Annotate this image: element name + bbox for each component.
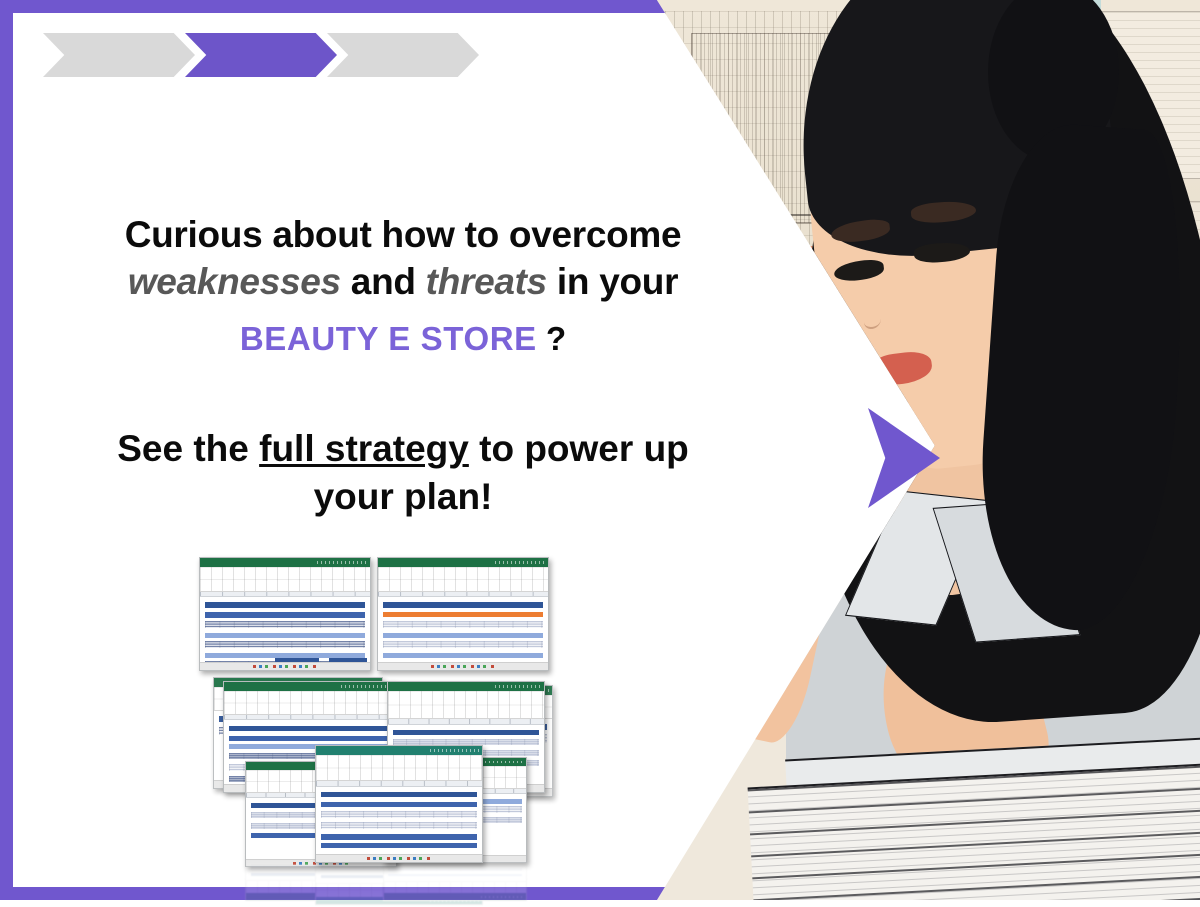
headline-line-1: Curious about how to overcome — [53, 211, 753, 258]
excel-window-turnover-table[interactable] — [199, 557, 371, 671]
sheet-rows — [205, 641, 365, 648]
headline-brand-line: BEAUTY E STORE ? — [53, 318, 753, 360]
slide-canvas: Curious about how to overcome weaknesses… — [0, 0, 1200, 900]
sheet-orange-band — [383, 612, 543, 616]
reflection-title-bar — [384, 893, 526, 900]
reflection-band — [321, 875, 477, 878]
excel-status-bar — [316, 854, 482, 862]
reflection-rows — [388, 868, 522, 871]
backdrop-bar-orange-icon — [792, 246, 814, 321]
sheet-rows — [321, 822, 477, 829]
excel-title-bar — [224, 682, 394, 691]
excel-title-bar — [388, 682, 544, 691]
sheet-header-band — [229, 736, 389, 741]
reflection-title-bar — [246, 893, 396, 900]
excel-collage — [191, 553, 563, 905]
excel-ribbon — [378, 567, 548, 592]
sheet-title-band — [393, 730, 540, 735]
excel-title-bar — [378, 558, 548, 567]
sheet-subheader-band — [383, 633, 543, 638]
reflection-title-bar — [316, 897, 482, 904]
excel-window-orange-summary[interactable] — [377, 557, 549, 671]
headline-inyour: in your — [547, 261, 678, 302]
excel-sheet-area — [316, 787, 482, 862]
cta-full-strategy-link[interactable]: full strategy — [259, 428, 469, 469]
progress-step-3[interactable] — [327, 33, 479, 77]
excel-window-cash-plan[interactable] — [315, 745, 483, 863]
excel-title-bar — [200, 558, 370, 567]
excel-title-bar — [316, 746, 482, 755]
excel-ribbon — [200, 567, 370, 592]
question-mark-glyph: ? — [546, 320, 566, 357]
headline-block: Curious about how to overcome weaknesses… — [53, 211, 753, 360]
brand-name: BEAUTY E STORE — [240, 320, 537, 357]
sheet-title-band — [321, 792, 477, 798]
sheet-subheader-band — [383, 653, 543, 658]
sheet-title-band — [229, 726, 389, 731]
sheet-rows — [383, 641, 543, 648]
excel-ribbon — [316, 755, 482, 781]
sheet-rows — [321, 811, 477, 818]
excel-status-bar — [200, 662, 370, 670]
sheet-total-band — [321, 834, 477, 840]
excel-sheet-area — [378, 597, 548, 670]
reflection-ribbon — [246, 880, 396, 893]
sheet-rows — [205, 621, 365, 628]
headline-and: and — [341, 261, 426, 302]
excel-ribbon — [224, 691, 394, 715]
cta-block: See the full strategy to power up your p… — [53, 425, 753, 521]
sheet-subheader-band — [205, 633, 365, 638]
sheet-header-band — [321, 802, 477, 808]
reflection-band — [251, 873, 392, 876]
cta-line-1: See the full strategy to power up — [53, 425, 753, 473]
cta-to-power-up: to power up — [469, 428, 689, 469]
backdrop-bar-teal-icon — [775, 318, 797, 358]
progress-step-1[interactable] — [43, 33, 195, 77]
cta-see-the: See the — [117, 428, 259, 469]
progress-step-2[interactable] — [185, 33, 337, 77]
headline-weaknesses: weaknesses — [128, 261, 341, 302]
headline-threats: threats — [426, 261, 547, 302]
sheet-rows — [383, 621, 543, 628]
reflection-ribbon — [384, 881, 526, 893]
cta-line-2: your plan! — [53, 473, 753, 521]
excel-ribbon — [388, 691, 544, 720]
headline-line-2: weaknesses and threats in your — [53, 258, 753, 305]
excel-sheet-area — [200, 597, 370, 670]
progress-chevrons — [43, 33, 469, 77]
sheet-header-band — [205, 612, 365, 617]
sheet-total-band — [321, 843, 477, 849]
headline-question-mark — [537, 320, 546, 357]
reflection-band — [388, 874, 522, 877]
sheet-title-band — [205, 602, 365, 607]
sheet-title-band — [383, 602, 543, 607]
reflection-ribbon — [316, 883, 482, 897]
excel-status-bar — [378, 662, 548, 670]
